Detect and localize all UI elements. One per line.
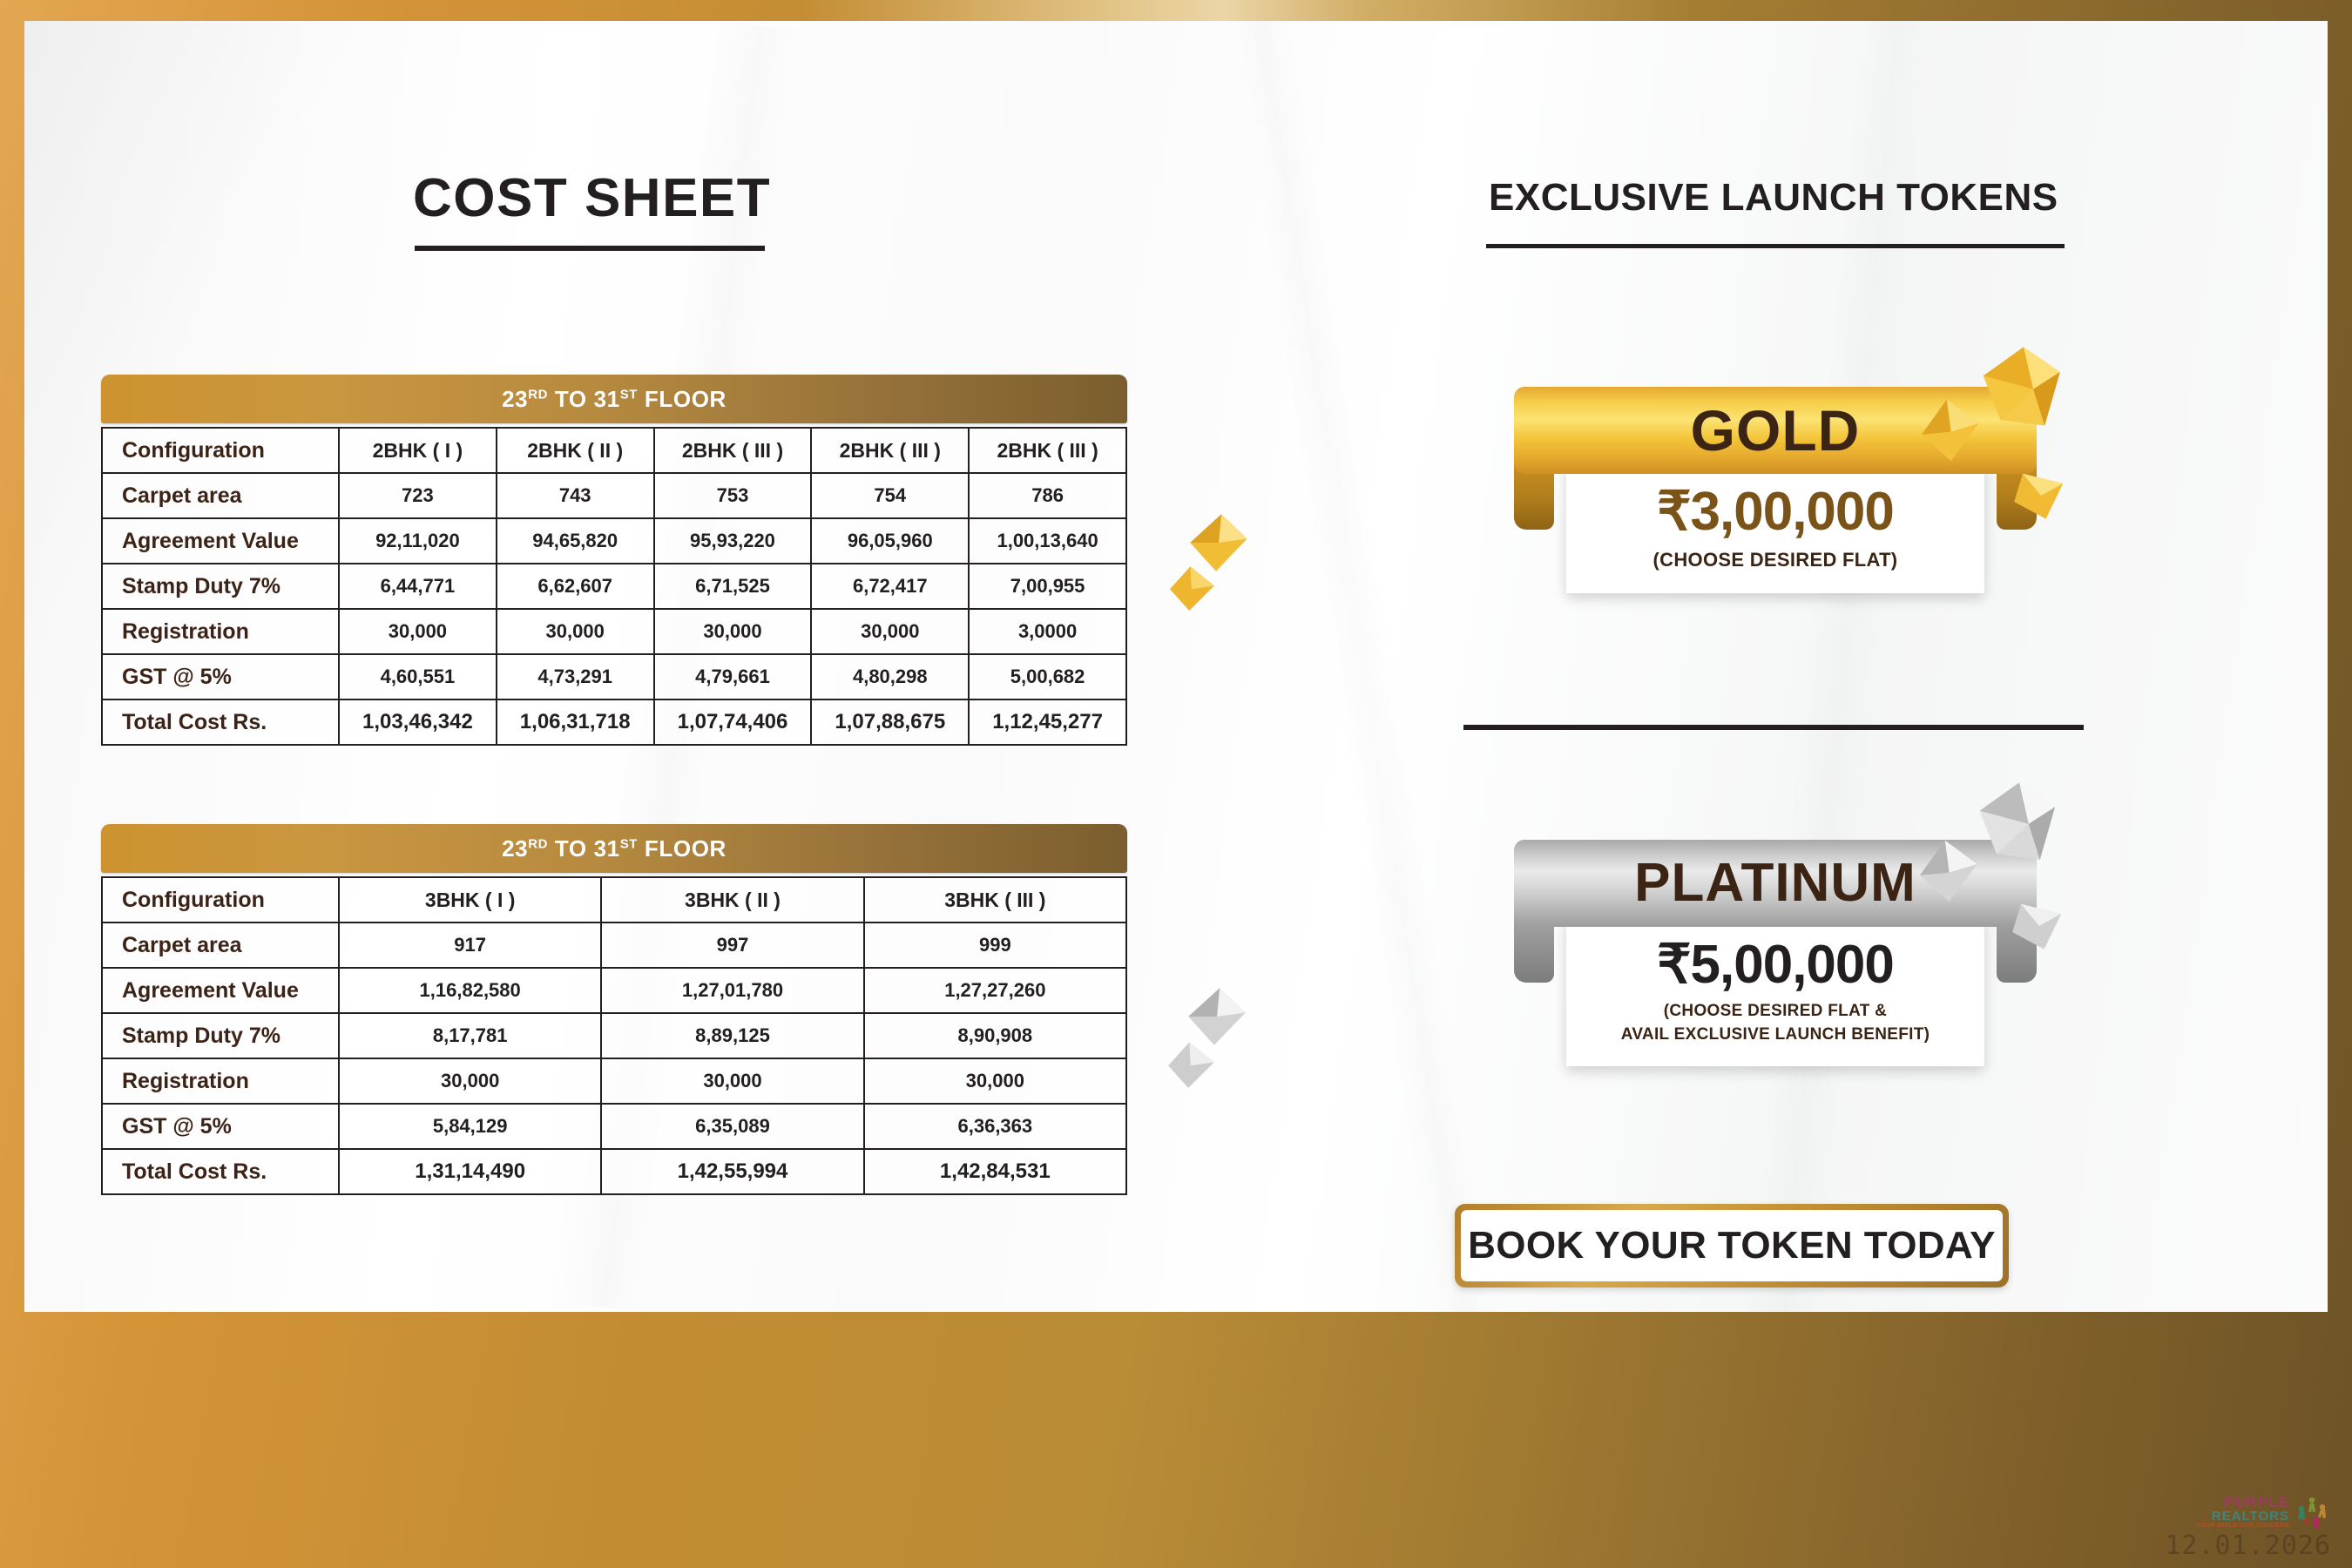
- cell-stamp-duty: 8,89,125: [601, 1013, 863, 1058]
- gold-price-amount: ₹3,00,000: [1575, 484, 1976, 539]
- row-label: Configuration: [102, 877, 339, 923]
- row-label: Registration: [102, 609, 339, 654]
- book-token-button-label: BOOK YOUR TOKEN TODAY: [1468, 1224, 1996, 1267]
- gold-tier-ribbon: GOLD: [1514, 387, 2037, 474]
- table-row: Stamp Duty 7% 6,44,771 6,62,607 6,71,525…: [102, 564, 1126, 609]
- row-label: Agreement Value: [102, 518, 339, 564]
- cell-config: 2BHK ( II ): [497, 428, 654, 473]
- table-row: Configuration 2BHK ( I ) 2BHK ( II ) 2BH…: [102, 428, 1126, 473]
- row-label: GST @ 5%: [102, 654, 339, 700]
- row-label: Carpet area: [102, 473, 339, 518]
- cell-stamp-duty: 8,17,781: [339, 1013, 601, 1058]
- cell-gst: 5,00,682: [969, 654, 1126, 700]
- cell-carpet-area: 754: [811, 473, 969, 518]
- cell-agreement-value: 96,05,960: [811, 518, 969, 564]
- gold-tier-label: GOLD: [1691, 402, 1861, 459]
- cell-gst: 4,80,298: [811, 654, 969, 700]
- cell-config: 3BHK ( III ): [864, 877, 1126, 923]
- cell-agreement-value: 1,27,27,260: [864, 968, 1126, 1013]
- watermark-date: 12.01.2026: [2165, 1531, 2331, 1561]
- star-people-icon: [2293, 1494, 2331, 1529]
- table-row: Agreement Value 92,11,020 94,65,820 95,9…: [102, 518, 1126, 564]
- book-token-button-inner: BOOK YOUR TOKEN TODAY: [1461, 1210, 2003, 1281]
- cell-config: 3BHK ( I ): [339, 877, 601, 923]
- cell-config: 2BHK ( III ): [969, 428, 1126, 473]
- cell-stamp-duty: 7,00,955: [969, 564, 1126, 609]
- gold-price-panel: ₹3,00,000 (CHOOSE DESIRED FLAT): [1566, 465, 1984, 593]
- table-row: GST @ 5% 4,60,551 4,73,291 4,79,661 4,80…: [102, 654, 1126, 700]
- table-row: Registration 30,000 30,000 30,000: [102, 1058, 1126, 1104]
- cost-sheet-column: COST SHEET 23RD TO 31ST FLOOR Configurat…: [24, 21, 1192, 1312]
- table-banner: 23RD TO 31ST FLOOR: [101, 824, 1127, 873]
- cell-registration: 30,000: [339, 1058, 601, 1104]
- cell-stamp-duty: 8,90,908: [864, 1013, 1126, 1058]
- cell-stamp-duty: 6,62,607: [497, 564, 654, 609]
- cell-registration: 30,000: [864, 1058, 1126, 1104]
- table-row: Configuration 3BHK ( I ) 3BHK ( II ) 3BH…: [102, 877, 1126, 923]
- cell-stamp-duty: 6,44,771: [339, 564, 497, 609]
- cell-registration: 3,0000: [969, 609, 1126, 654]
- cell-config: 2BHK ( III ): [654, 428, 812, 473]
- cell-gst: 4,60,551: [339, 654, 497, 700]
- row-label: Stamp Duty 7%: [102, 1013, 339, 1058]
- cell-stamp-duty: 6,72,417: [811, 564, 969, 609]
- cell-total-cost: 1,42,84,531: [864, 1149, 1126, 1194]
- row-label: Registration: [102, 1058, 339, 1104]
- row-label: Agreement Value: [102, 968, 339, 1013]
- table-row: GST @ 5% 5,84,129 6,35,089 6,36,363: [102, 1104, 1126, 1149]
- tokens-column: EXCLUSIVE LAUNCH TOKENS: [1192, 21, 2328, 1312]
- book-token-button[interactable]: BOOK YOUR TOKEN TODAY: [1455, 1204, 2009, 1288]
- table-banner-label: 23RD TO 31ST FLOOR: [502, 835, 727, 862]
- watermark-brand-line2: REALTORS: [2196, 1510, 2289, 1523]
- table-row: Carpet area 917 997 999: [102, 923, 1126, 968]
- cell-agreement-value: 1,00,13,640: [969, 518, 1126, 564]
- cell-config: 2BHK ( III ): [811, 428, 969, 473]
- cell-config: 3BHK ( II ): [601, 877, 863, 923]
- table-row-total: Total Cost Rs. 1,03,46,342 1,06,31,718 1…: [102, 700, 1126, 745]
- cell-registration: 30,000: [601, 1058, 863, 1104]
- cell-agreement-value: 1,27,01,780: [601, 968, 863, 1013]
- platinum-price-amount: ₹5,00,000: [1575, 937, 1976, 992]
- gold-gem-icon: [1185, 509, 1253, 577]
- platinum-price-note-line1: (CHOOSE DESIRED FLAT &: [1575, 1001, 1976, 1022]
- cell-agreement-value: 95,93,220: [654, 518, 812, 564]
- cell-gst: 4,73,291: [497, 654, 654, 700]
- table-2bhk: Configuration 2BHK ( I ) 2BHK ( II ) 2BH…: [101, 427, 1127, 746]
- cell-carpet-area: 753: [654, 473, 812, 518]
- table-banner: 23RD TO 31ST FLOOR: [101, 375, 1127, 423]
- cell-total-cost: 1,03,46,342: [339, 700, 497, 745]
- cell-agreement-value: 94,65,820: [497, 518, 654, 564]
- row-label: Total Cost Rs.: [102, 700, 339, 745]
- cost-table-3bhk: 23RD TO 31ST FLOOR Configuration 3BHK ( …: [101, 824, 1127, 1195]
- cell-gst: 6,36,363: [864, 1104, 1126, 1149]
- watermark-logo: PURPLE REALTORS YOUR SMILE OUR CONCERN: [2165, 1494, 2331, 1529]
- gold-token-card[interactable]: GOLD ₹3,00,000 (CHOOSE DESIRED FLAT): [1453, 387, 2098, 593]
- page-title-underline: [415, 246, 765, 251]
- watermark-brand-line1: PURPLE: [2196, 1495, 2289, 1510]
- cell-agreement-value: 1,16,82,580: [339, 968, 601, 1013]
- cell-registration: 30,000: [811, 609, 969, 654]
- cell-total-cost: 1,42,55,994: [601, 1149, 863, 1194]
- cell-carpet-area: 786: [969, 473, 1126, 518]
- cell-carpet-area: 723: [339, 473, 497, 518]
- cell-gst: 5,84,129: [339, 1104, 601, 1149]
- table-3bhk: Configuration 3BHK ( I ) 3BHK ( II ) 3BH…: [101, 876, 1127, 1195]
- cell-total-cost: 1,12,45,277: [969, 700, 1126, 745]
- table-row-total: Total Cost Rs. 1,31,14,490 1,42,55,994 1…: [102, 1149, 1126, 1194]
- table-banner-label: 23RD TO 31ST FLOOR: [502, 386, 727, 413]
- cell-gst: 6,35,089: [601, 1104, 863, 1149]
- cell-carpet-area: 743: [497, 473, 654, 518]
- cell-gst: 4,79,661: [654, 654, 812, 700]
- tokens-title: EXCLUSIVE LAUNCH TOKENS: [1489, 176, 2058, 220]
- cell-total-cost: 1,06,31,718: [497, 700, 654, 745]
- platinum-tier-label: PLATINUM: [1634, 856, 1916, 910]
- platinum-tier-ribbon: PLATINUM: [1514, 840, 2037, 927]
- cell-registration: 30,000: [339, 609, 497, 654]
- cost-table-2bhk: 23RD TO 31ST FLOOR Configuration 2BHK ( …: [101, 375, 1127, 746]
- cell-total-cost: 1,07,88,675: [811, 700, 969, 745]
- cell-config: 2BHK ( I ): [339, 428, 497, 473]
- row-label: GST @ 5%: [102, 1104, 339, 1149]
- cell-carpet-area: 997: [601, 923, 863, 968]
- cell-total-cost: 1,31,14,490: [339, 1149, 601, 1194]
- cell-registration: 30,000: [497, 609, 654, 654]
- section-divider: [1463, 725, 2084, 730]
- table-row: Agreement Value 1,16,82,580 1,27,01,780 …: [102, 968, 1126, 1013]
- row-label: Carpet area: [102, 923, 339, 968]
- platinum-gem-icon: [1183, 983, 1251, 1051]
- cell-stamp-duty: 6,71,525: [654, 564, 812, 609]
- cell-total-cost: 1,07,74,406: [654, 700, 812, 745]
- watermark: PURPLE REALTORS YOUR SMILE OUR CONCERN 1…: [2165, 1494, 2331, 1561]
- table-row: Registration 30,000 30,000 30,000 30,000…: [102, 609, 1126, 654]
- table-row: Stamp Duty 7% 8,17,781 8,89,125 8,90,908: [102, 1013, 1126, 1058]
- watermark-wordmark: PURPLE REALTORS YOUR SMILE OUR CONCERN: [2196, 1495, 2289, 1529]
- content-card: COST SHEET 23RD TO 31ST FLOOR Configurat…: [24, 21, 2328, 1312]
- platinum-token-card[interactable]: PLATINUM ₹5,00,000 (CHOOSE DESIRED FLAT …: [1453, 840, 2098, 1066]
- cell-carpet-area: 917: [339, 923, 601, 968]
- cell-carpet-area: 999: [864, 923, 1126, 968]
- tokens-title-underline: [1486, 244, 2065, 248]
- table-row: Carpet area 723 743 753 754 786: [102, 473, 1126, 518]
- watermark-tagline: YOUR SMILE OUR CONCERN: [2196, 1523, 2289, 1529]
- row-label: Configuration: [102, 428, 339, 473]
- gold-price-note: (CHOOSE DESIRED FLAT): [1575, 548, 1976, 572]
- page-title: COST SHEET: [413, 167, 771, 229]
- poster-root: COST SHEET 23RD TO 31ST FLOOR Configurat…: [0, 0, 2352, 1568]
- platinum-price-note-line2: AVAIL EXCLUSIVE LAUNCH BENEFIT): [1575, 1024, 1976, 1045]
- row-label: Total Cost Rs.: [102, 1149, 339, 1194]
- platinum-price-panel: ₹5,00,000 (CHOOSE DESIRED FLAT & AVAIL E…: [1566, 918, 1984, 1066]
- row-label: Stamp Duty 7%: [102, 564, 339, 609]
- cell-registration: 30,000: [654, 609, 812, 654]
- cell-agreement-value: 92,11,020: [339, 518, 497, 564]
